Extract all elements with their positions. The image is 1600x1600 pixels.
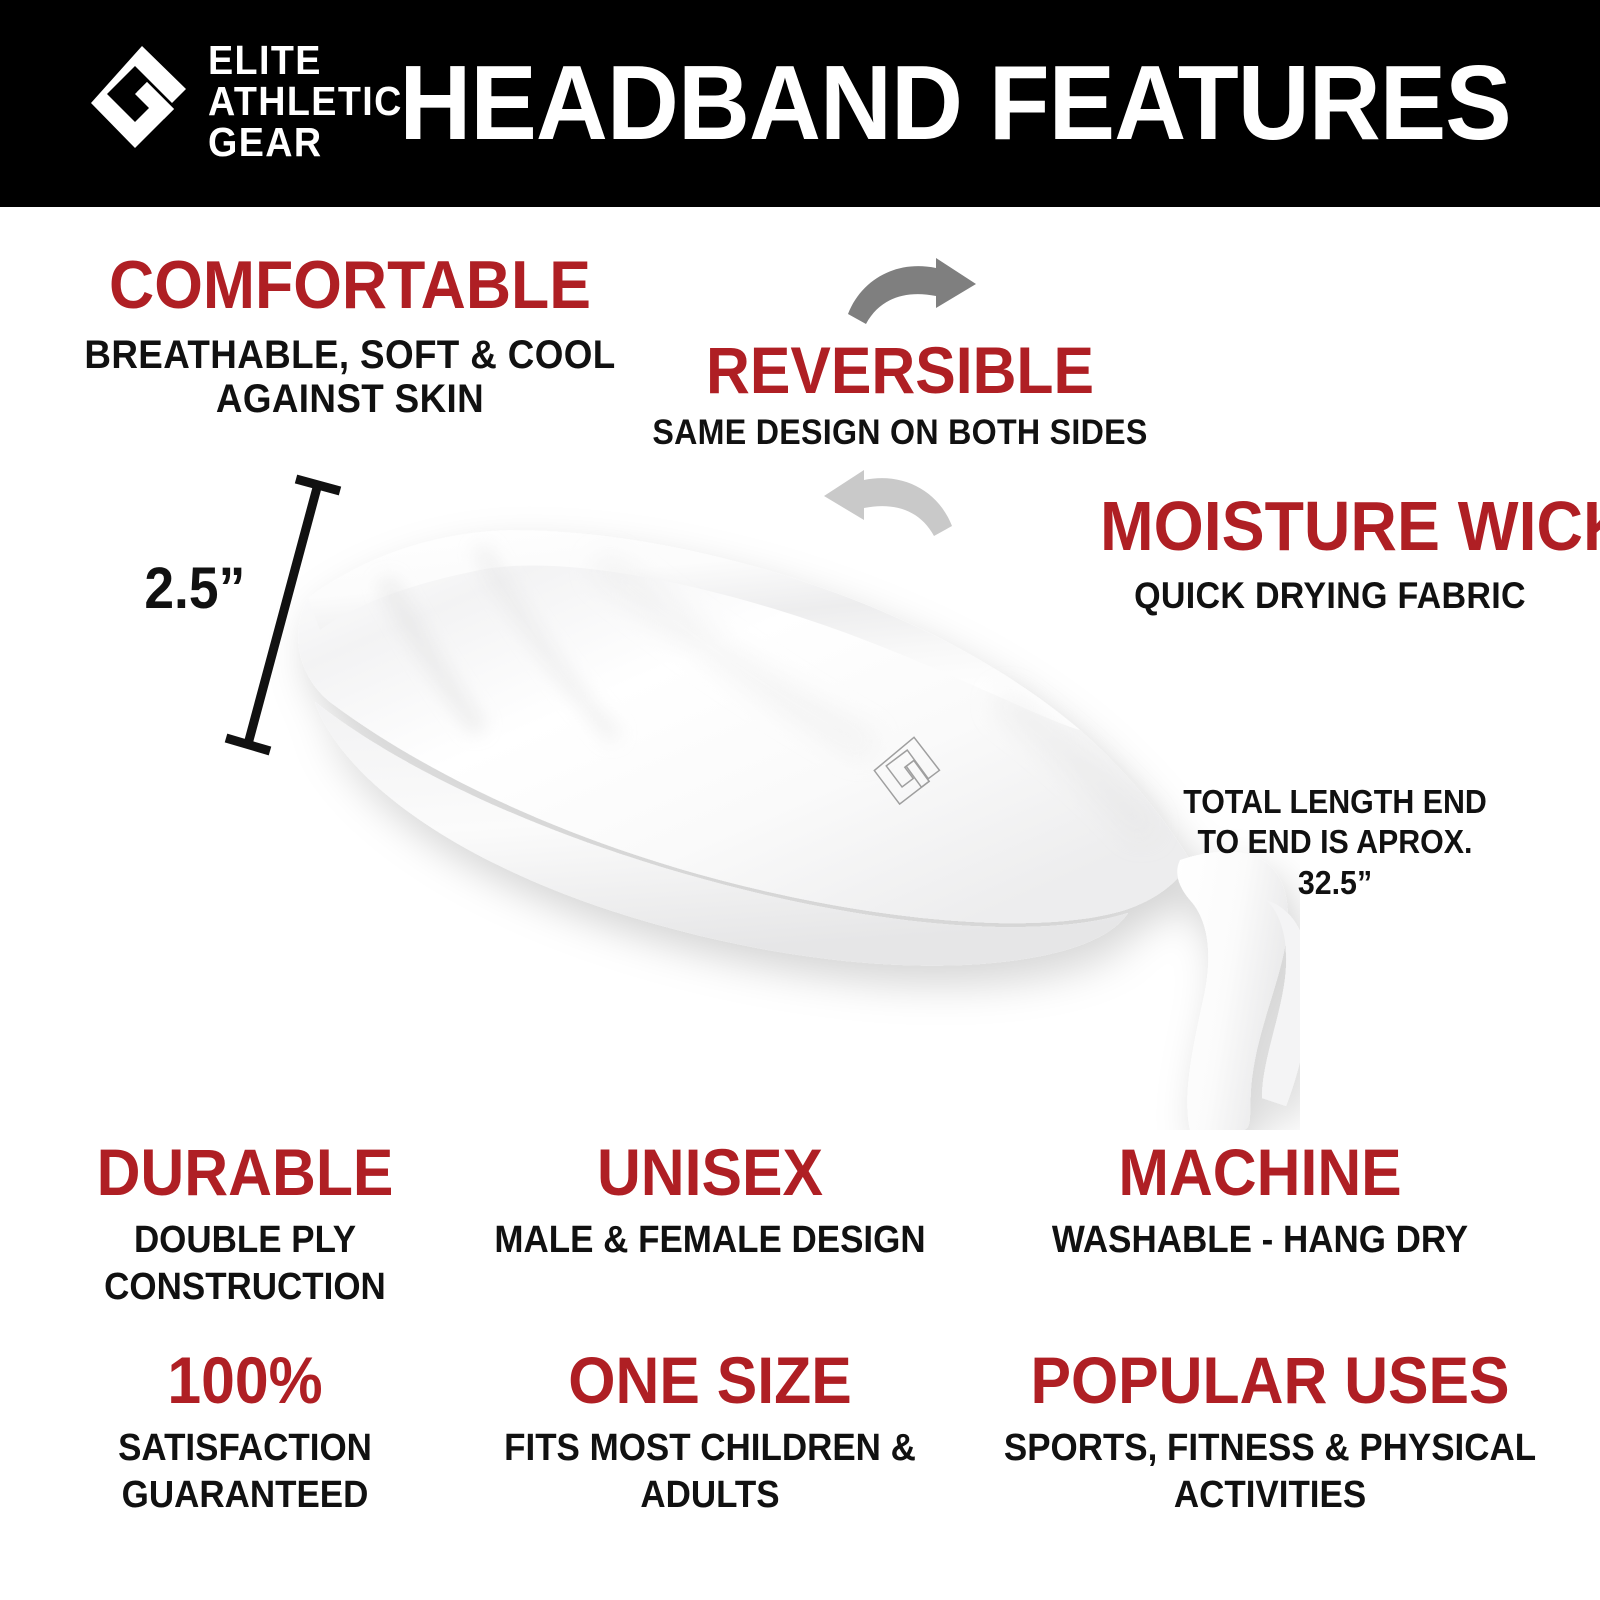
feature-machine-subtext: WASHABLE - HANG DRY bbox=[1021, 1217, 1499, 1265]
page-title: HEADBAND FEATURES bbox=[48, 0, 1552, 207]
feature-hundred-subtext: SATISFACTION GUARANTEED bbox=[38, 1425, 452, 1520]
feature-unisex: UNISEX MALE & FEMALE DESIGN bbox=[440, 1140, 980, 1264]
feature-popular-heading: POPULAR USES bbox=[985, 1348, 1555, 1413]
reversible-arrow-counterclockwise-icon bbox=[820, 470, 960, 542]
feature-machine-washable: MACHINE WASHABLE - HANG DRY bbox=[1000, 1140, 1520, 1264]
feature-reversible-subtext: SAME DESIGN ON BOTH SIDES bbox=[624, 413, 1176, 452]
feature-hundred-heading: 100% bbox=[38, 1348, 452, 1413]
feature-moisture-subtext: QUICK DRYING FABRIC bbox=[1100, 575, 1560, 616]
feature-machine-heading: MACHINE bbox=[1021, 1140, 1499, 1205]
infographic-page: ELITE ATHLETIC GEAR HEADBAND FEATURES bbox=[0, 0, 1600, 1600]
feature-onesize-subtext: FITS MOST CHILDREN & ADULTS bbox=[462, 1425, 959, 1520]
feature-moisture-heading: MOISTURE WICKING bbox=[1100, 490, 1560, 563]
feature-reversible: REVERSIBLE SAME DESIGN ON BOTH SIDES bbox=[600, 338, 1200, 452]
feature-durable: DURABLE DOUBLE PLY CONSTRUCTION bbox=[20, 1140, 470, 1312]
feature-satisfaction: 100% SATISFACTION GUARANTEED bbox=[20, 1348, 470, 1520]
feature-onesize-heading: ONE SIZE bbox=[462, 1348, 959, 1413]
feature-popular-subtext: SPORTS, FITNESS & PHYSICAL ACTIVITIES bbox=[985, 1425, 1555, 1520]
feature-one-size: ONE SIZE FITS MOST CHILDREN & ADULTS bbox=[440, 1348, 980, 1520]
feature-durable-heading: DURABLE bbox=[38, 1140, 452, 1205]
total-length-note: TOTAL LENGTH END TO END IS APROX. 32.5” bbox=[1174, 782, 1496, 903]
feature-unisex-subtext: MALE & FEMALE DESIGN bbox=[462, 1217, 959, 1265]
feature-unisex-heading: UNISEX bbox=[462, 1140, 959, 1205]
page-header: ELITE ATHLETIC GEAR HEADBAND FEATURES bbox=[0, 0, 1600, 207]
feature-comfortable-subtext: BREATHABLE, SOFT & COOL AGAINST SKIN bbox=[65, 333, 635, 423]
feature-moisture-wicking: MOISTURE WICKING QUICK DRYING FABRIC bbox=[1080, 490, 1580, 616]
feature-durable-subtext: DOUBLE PLY CONSTRUCTION bbox=[38, 1217, 452, 1312]
feature-popular-uses: POPULAR USES SPORTS, FITNESS & PHYSICAL … bbox=[960, 1348, 1580, 1520]
feature-comfortable-heading: COMFORTABLE bbox=[65, 252, 635, 319]
feature-comfortable: COMFORTABLE BREATHABLE, SOFT & COOL AGAI… bbox=[40, 252, 660, 422]
feature-reversible-heading: REVERSIBLE bbox=[624, 338, 1176, 403]
reversible-arrow-clockwise-icon bbox=[840, 258, 980, 330]
width-dimension-label: 2.5” bbox=[144, 555, 245, 622]
